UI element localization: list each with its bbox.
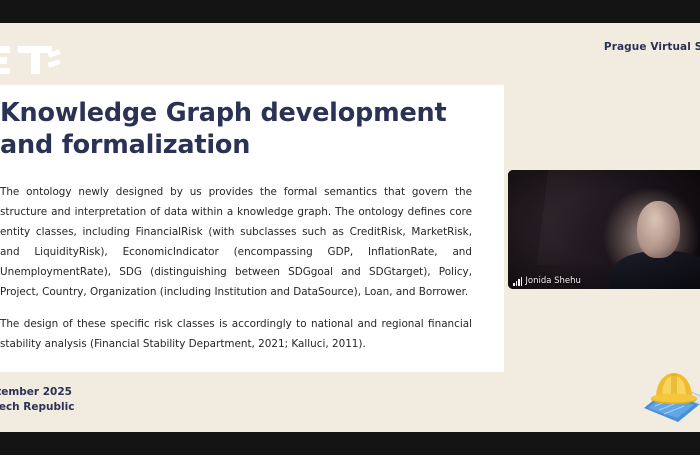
video-feed xyxy=(508,170,700,289)
participant-video-tile[interactable]: Jonida Shehu xyxy=(508,170,700,289)
letterbox-bottom xyxy=(0,432,700,455)
letterbox-top xyxy=(0,0,700,23)
slide-content-card: Knowledge Graph development and formaliz… xyxy=(0,85,504,372)
slide-paragraph: The design of these specific risk classe… xyxy=(0,315,472,355)
slide-footer-location: Czech Republic xyxy=(0,400,74,415)
slide-footer-date: September 2025 xyxy=(0,385,74,400)
video-vignette xyxy=(508,170,700,289)
construction-helmet-blueprint-emoji xyxy=(636,368,700,426)
audio-level-bars-icon xyxy=(513,277,522,286)
ist-logo xyxy=(0,40,62,80)
session-label: Prague Virtual Sessi xyxy=(604,41,700,53)
slide-paragraph: The ontology newly designed by us provid… xyxy=(0,183,472,303)
participant-name: Jonida Shehu xyxy=(525,276,581,286)
slide-footer: September 2025 Czech Republic xyxy=(0,385,74,415)
participant-nameplate: Jonida Shehu xyxy=(513,276,581,286)
slide-body-text: The ontology newly designed by us provid… xyxy=(0,183,472,355)
slide-title: Knowledge Graph development and formaliz… xyxy=(0,97,480,162)
video-call-screen: Prague Virtual Sessi Knowledge Graph dev… xyxy=(0,0,700,455)
